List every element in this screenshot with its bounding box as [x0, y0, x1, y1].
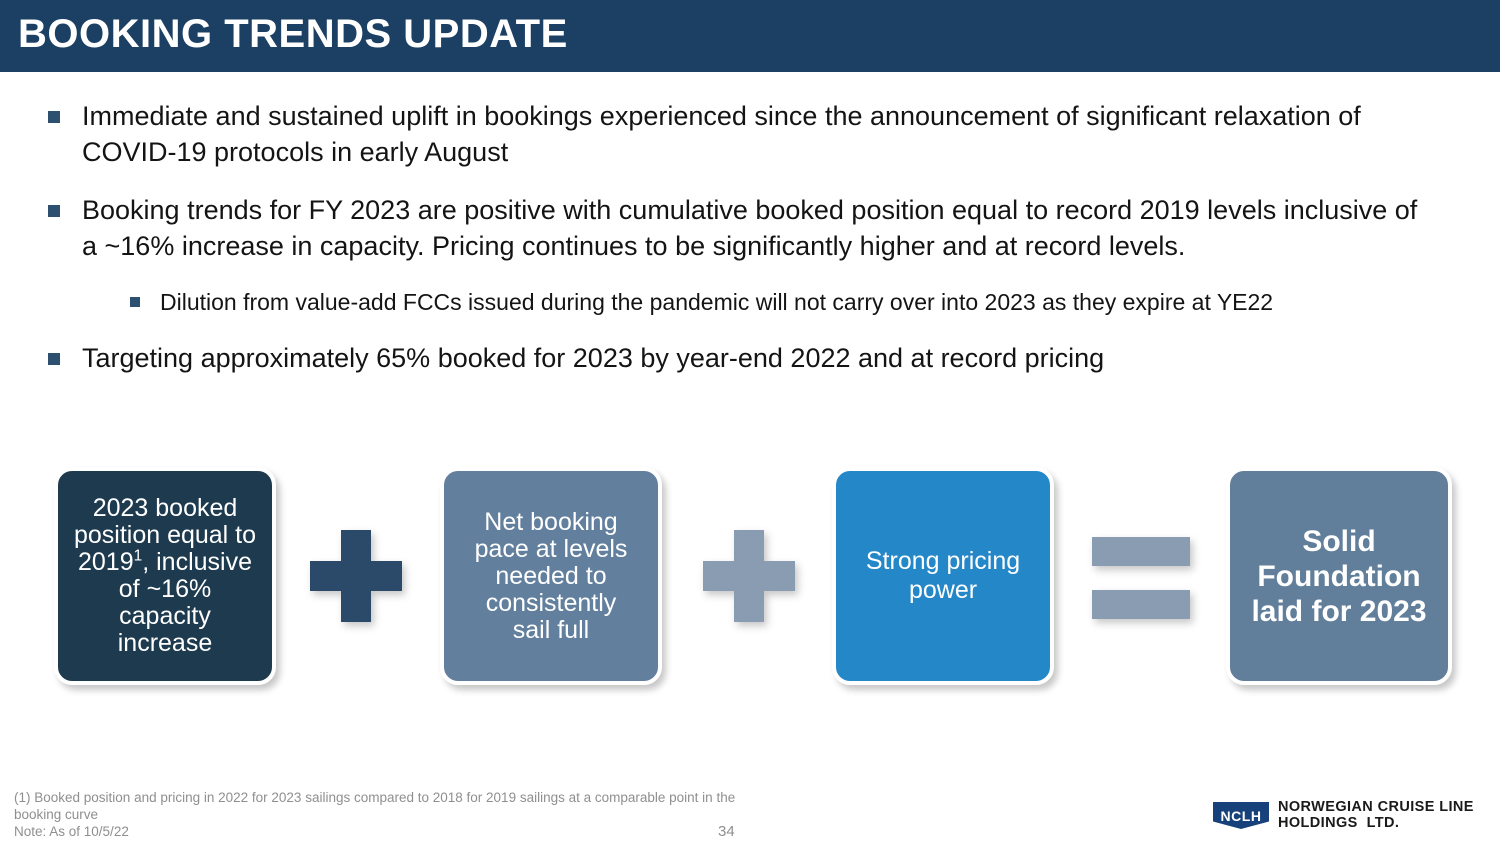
footnote-superscript: 1: [134, 548, 143, 565]
bullet-item-3-text: Dilution from value-add FCCs issued duri…: [160, 286, 1273, 318]
node3-line2: power: [909, 576, 977, 604]
footnote-line-2: booking curve: [14, 806, 914, 823]
slide: BOOKING TRENDS UPDATE Immediate and sust…: [0, 0, 1500, 844]
bullet-list: Immediate and sustained uplift in bookin…: [0, 98, 1500, 398]
nclh-shield-icon: NCLH: [1213, 802, 1269, 829]
node2-line3: needed to: [495, 562, 606, 590]
bullet-item-1: Immediate and sustained uplift in bookin…: [0, 98, 1500, 170]
node1-line6: increase: [118, 629, 213, 657]
page-number: 34: [718, 823, 735, 840]
bullet-item-3-sub: Dilution from value-add FCCs issued duri…: [0, 286, 1500, 318]
logo-line-2: HOLDINGS LTD.: [1278, 815, 1399, 831]
square-bullet-icon: [48, 111, 60, 123]
company-logo-text: NORWEGIAN CRUISE LINEHOLDINGS LTD.: [1278, 800, 1474, 831]
footnote: (1) Booked position and pricing in 2022 …: [14, 789, 914, 840]
equals-bar-top: [1092, 537, 1190, 566]
diagram-node-solid-foundation-label: Solid Foundation laid for 2023: [1239, 524, 1438, 629]
square-sub-bullet-icon: [130, 297, 140, 307]
bullet-item-2: Booking trends for FY 2023 are positive …: [0, 192, 1500, 264]
logo-line-1: NORWEGIAN CRUISE LINE: [1278, 799, 1474, 815]
diagram-node-booked-position-label: 2023 booked position equal to 20191, inc…: [62, 495, 268, 657]
node4-line1: Solid: [1302, 525, 1375, 558]
node2-line2: pace at levels: [475, 535, 628, 563]
node1-line5: capacity: [119, 602, 211, 630]
bullet-item-4-text: Targeting approximately 65% booked for 2…: [82, 340, 1104, 376]
equals-bar-bottom: [1092, 590, 1190, 619]
plus-icon: [310, 530, 402, 622]
node2-line5: sail full: [513, 616, 589, 644]
node4-line2: Foundation: [1257, 560, 1420, 593]
diagram-node-strong-pricing-power: Strong pricing power: [832, 467, 1054, 685]
node2-line4: consistently: [486, 589, 617, 617]
footnote-line-3: Note: As of 10/5/22: [14, 823, 914, 840]
diagram-node-strong-pricing-power-label: Strong pricing power: [854, 547, 1032, 605]
node1-line3-pre: 2019: [78, 548, 134, 576]
equals-icon: [1092, 537, 1190, 619]
slide-title-bar: BOOKING TRENDS UPDATE: [0, 0, 1500, 72]
node4-line3: laid for 2023: [1251, 595, 1426, 628]
bullet-item-4: Targeting approximately 65% booked for 2…: [0, 340, 1500, 376]
node1-line2: position equal to: [74, 521, 256, 549]
bullet-item-2-text: Booking trends for FY 2023 are positive …: [82, 192, 1422, 264]
diagram-node-net-booking-pace: Net booking pace at levels needed to con…: [440, 467, 662, 685]
diagram-node-net-booking-pace-label: Net booking pace at levels needed to con…: [463, 509, 640, 644]
node3-line1: Strong pricing: [866, 547, 1020, 575]
square-bullet-icon: [48, 353, 60, 365]
square-bullet-icon: [48, 205, 60, 217]
bullet-item-1-text: Immediate and sustained uplift in bookin…: [82, 98, 1422, 170]
equation-diagram: 2023 booked position equal to 20191, inc…: [0, 462, 1500, 702]
page-title: BOOKING TRENDS UPDATE: [18, 12, 568, 57]
diagram-node-booked-position: 2023 booked position equal to 20191, inc…: [54, 467, 276, 685]
company-logo: NCLH NORWEGIAN CRUISE LINEHOLDINGS LTD.: [1213, 800, 1474, 831]
node1-line4: of ~16%: [119, 575, 211, 603]
node2-line1: Net booking: [484, 508, 617, 536]
node1-line1: 2023 booked: [93, 494, 238, 522]
node1-line3-post: , inclusive: [142, 548, 252, 576]
plus-icon: [703, 530, 795, 622]
diagram-node-solid-foundation: Solid Foundation laid for 2023: [1226, 467, 1452, 685]
footnote-line-1: (1) Booked position and pricing in 2022 …: [14, 789, 914, 806]
